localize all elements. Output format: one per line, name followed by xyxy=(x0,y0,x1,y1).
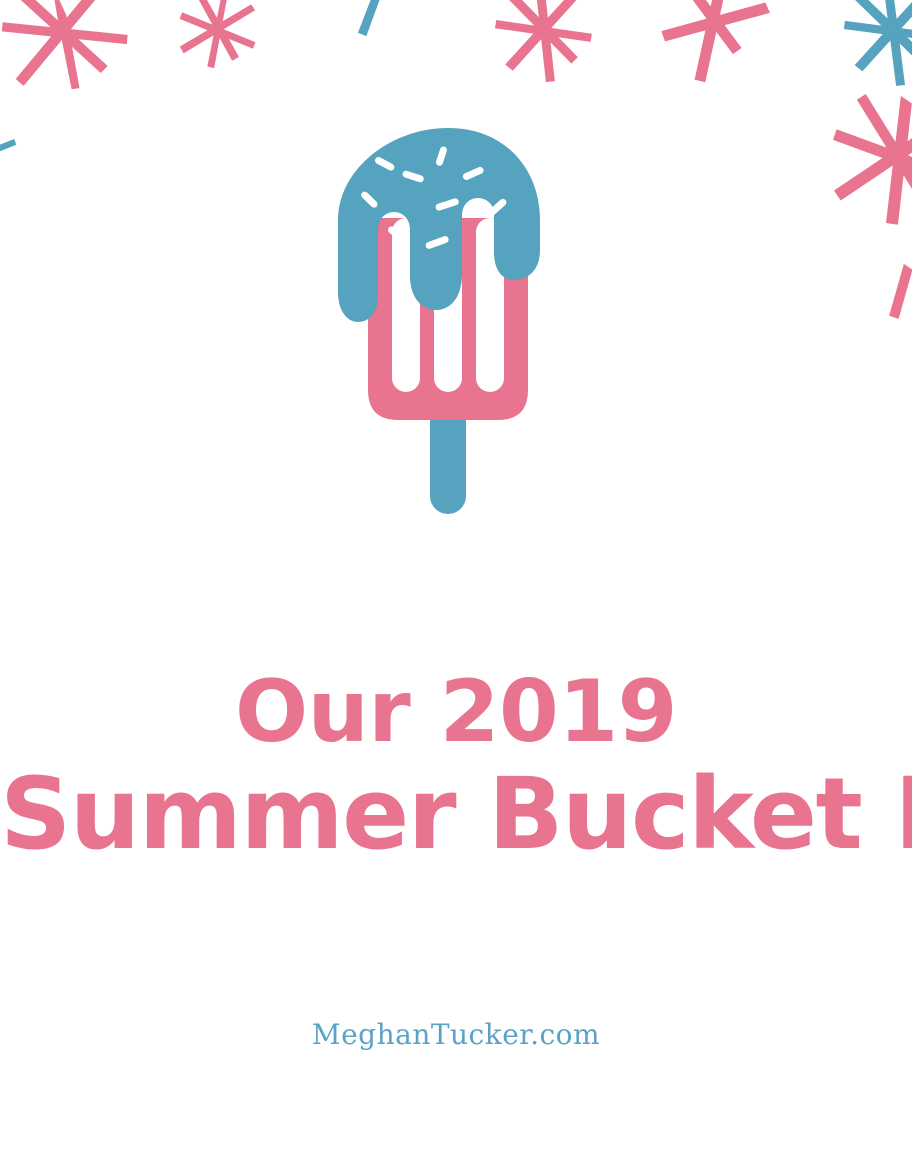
footer-website: MeghanTucker.com xyxy=(312,1018,600,1051)
cover-page: Our 2019 Summer Bucket List MeghanTucker… xyxy=(0,0,912,1164)
star-burst-icon xyxy=(357,0,390,36)
star-burst-icon xyxy=(0,136,17,159)
star-burst-icon xyxy=(887,264,912,319)
star-burst-icon xyxy=(171,0,264,75)
star-burst-icon xyxy=(823,87,912,232)
page-title: Our 2019 Summer Bucket List xyxy=(0,664,912,870)
title-line-2: Summer Bucket List xyxy=(0,760,912,870)
star-burst-icon xyxy=(840,0,912,91)
footer: MeghanTucker.com xyxy=(0,1018,912,1051)
star-burst-icon xyxy=(492,0,596,86)
star-burst-icon xyxy=(0,0,134,98)
star-burst-icon xyxy=(652,0,776,93)
title-line-1: Our 2019 xyxy=(0,664,912,760)
popsicle-illustration xyxy=(336,118,560,522)
